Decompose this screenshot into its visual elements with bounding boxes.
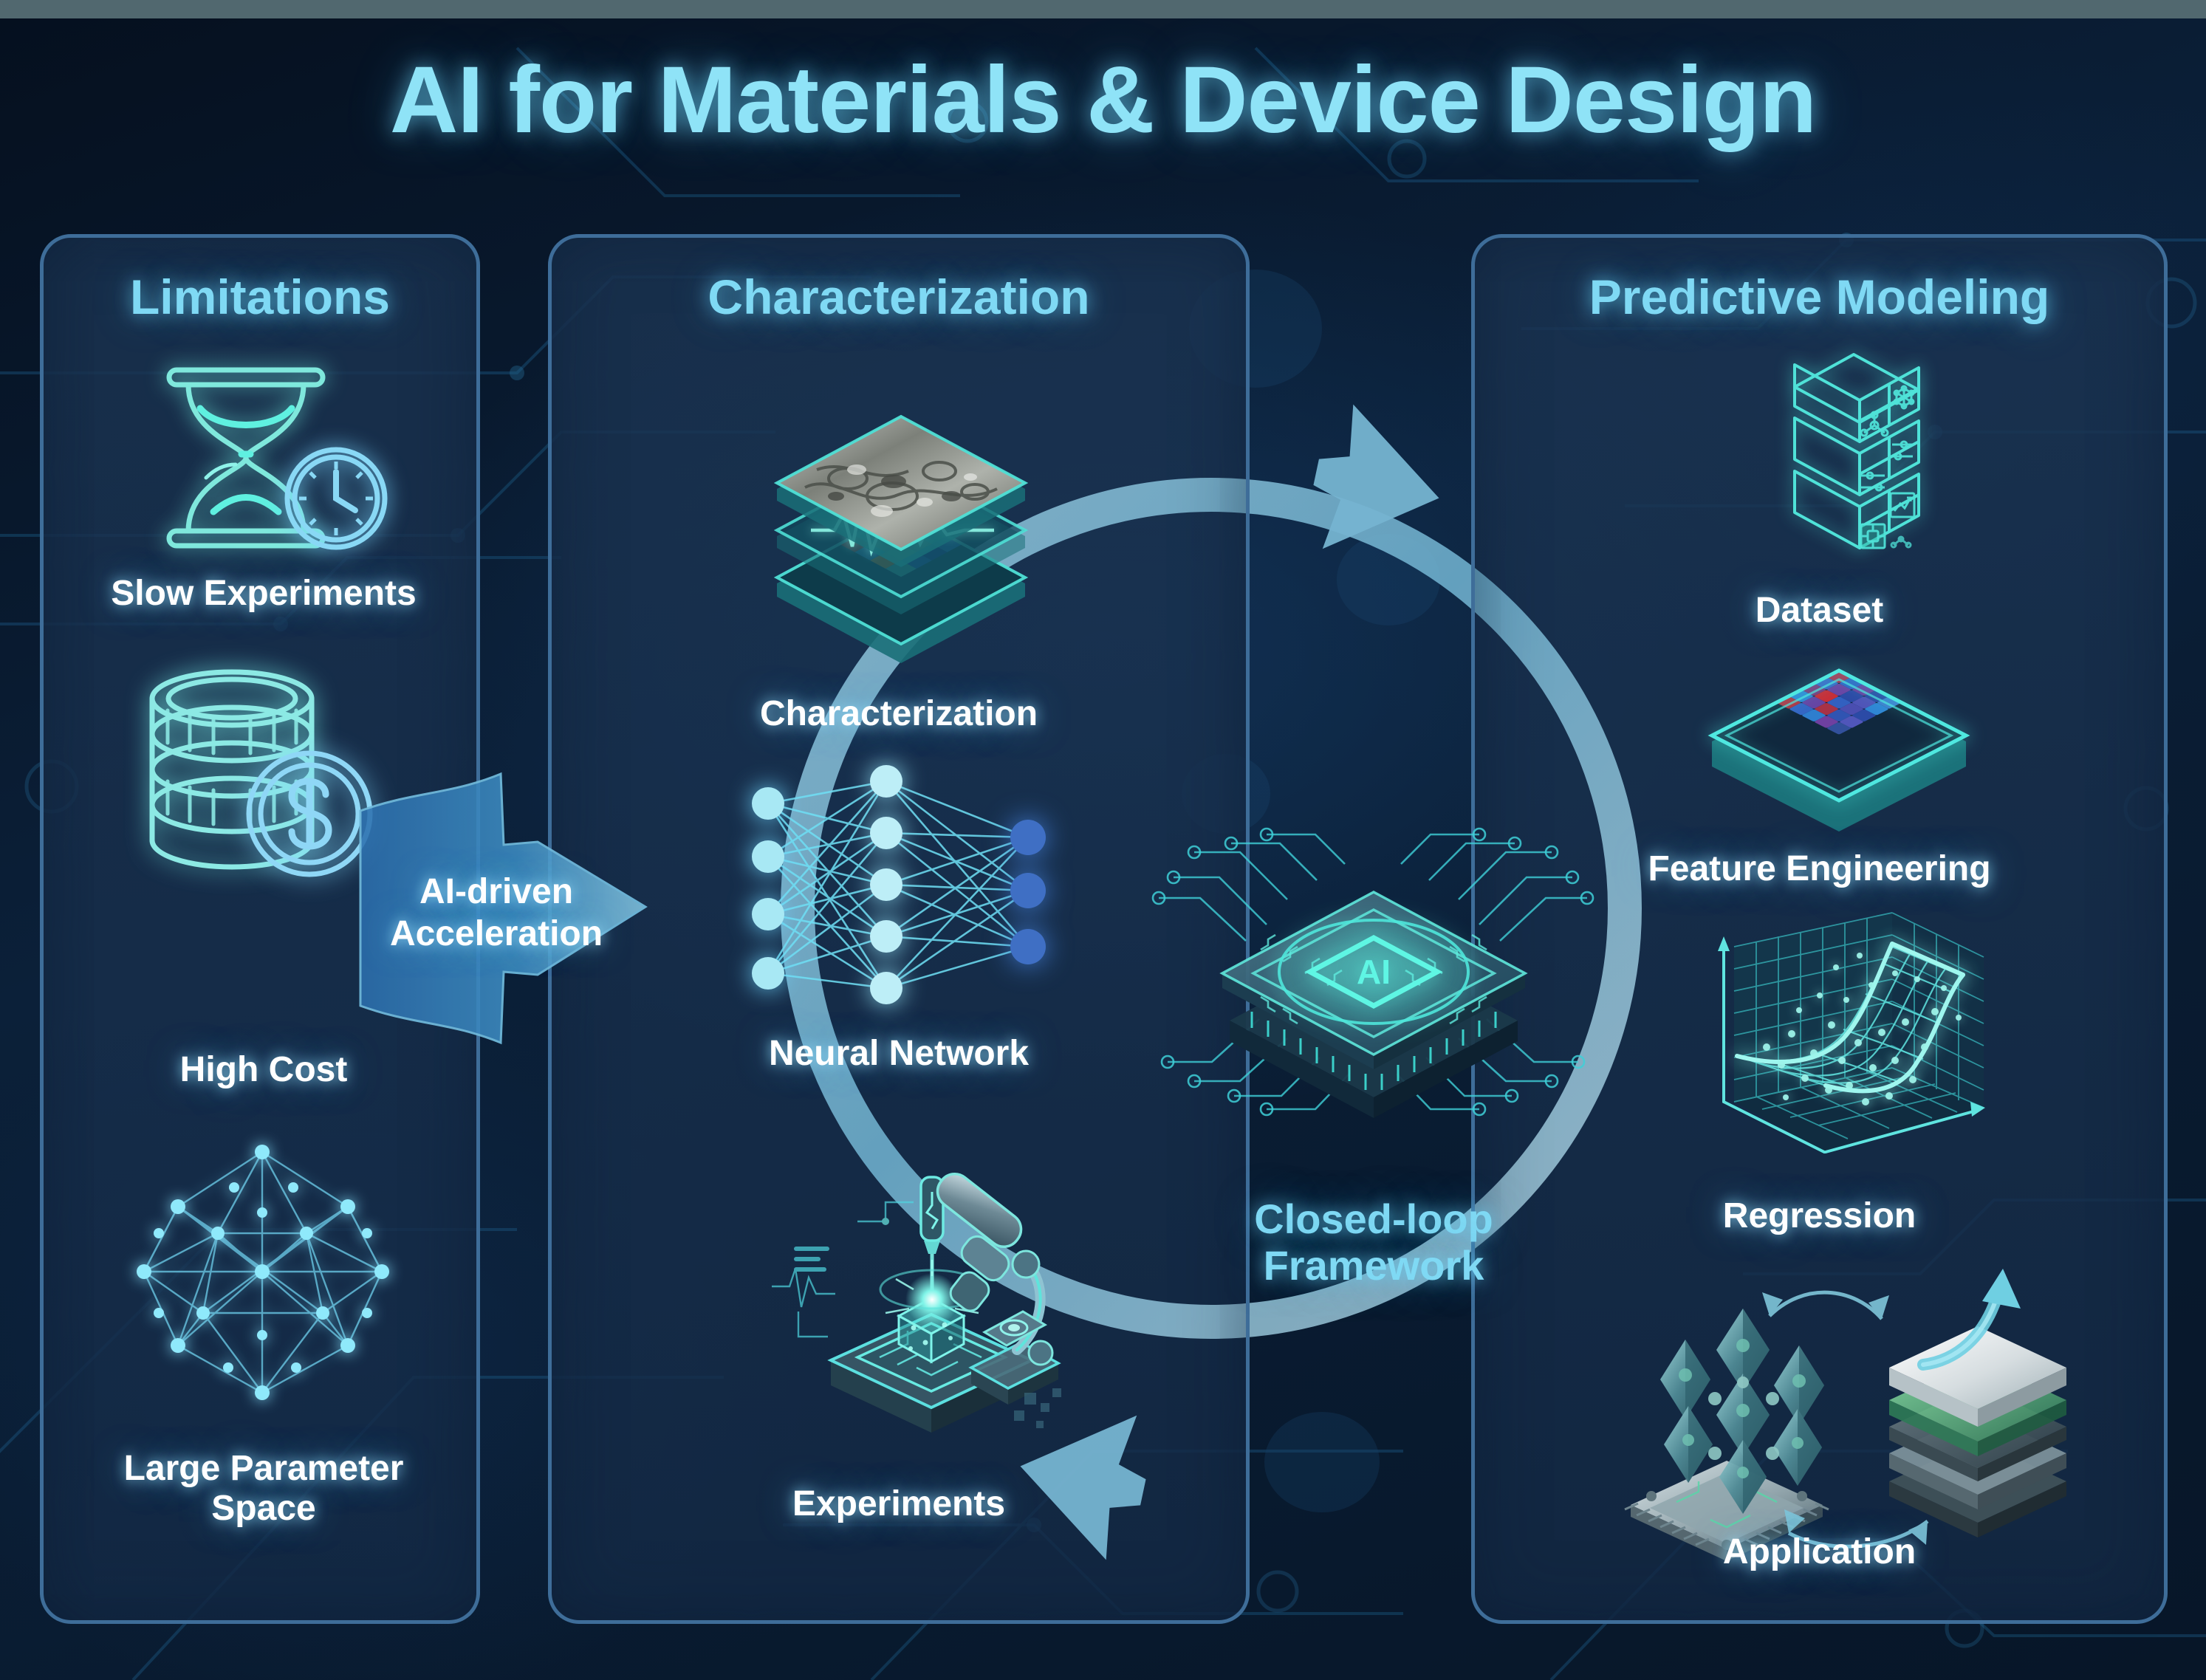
- ai-acceleration-arrow-label: AI-driven Acceleration: [360, 871, 633, 955]
- microscope-lab-icon: [727, 1167, 1067, 1477]
- coin-stack-dollar-icon: [132, 666, 383, 888]
- item-label-dataset: Dataset: [1471, 591, 2168, 631]
- ai-chip-core-text: AI: [1357, 953, 1391, 991]
- crystal-device-stack-icon: [1617, 1255, 2164, 1566]
- item-label-experiments: Experiments: [548, 1484, 1250, 1524]
- item-label-large-parameter-space: Large Parameter Space: [44, 1449, 484, 1529]
- page-title: AI for Materials & Device Design: [0, 46, 2206, 154]
- hourglass-clock-icon: [123, 360, 404, 559]
- item-label-slow-experiments: Slow Experiments: [44, 574, 484, 614]
- parameter-space-network-icon: [107, 1124, 417, 1419]
- panel-title-limitations: Limitations: [44, 269, 476, 325]
- closed-loop-framework-label: Closed-loop Framework: [1148, 1196, 1599, 1289]
- layered-data-planes-icon: [753, 399, 1049, 642]
- panel-title-characterization: Characterization: [552, 269, 1246, 325]
- panel-title-predictive-modeling: Predictive Modeling: [1475, 269, 2164, 325]
- item-label-application: Application: [1471, 1532, 2168, 1572]
- matrix-heatmap-icon: [1691, 657, 1987, 827]
- neural-network-icon: [739, 761, 1063, 1041]
- top-chrome-bar: [0, 0, 2206, 18]
- ai-chip-icon: AI: [1148, 768, 1599, 1182]
- item-label-characterization: Characterization: [548, 694, 1250, 734]
- surface-regression-plot-icon: [1691, 908, 2001, 1196]
- nn-output-layer: [1010, 820, 1046, 964]
- database-server-icon: [1728, 354, 1942, 598]
